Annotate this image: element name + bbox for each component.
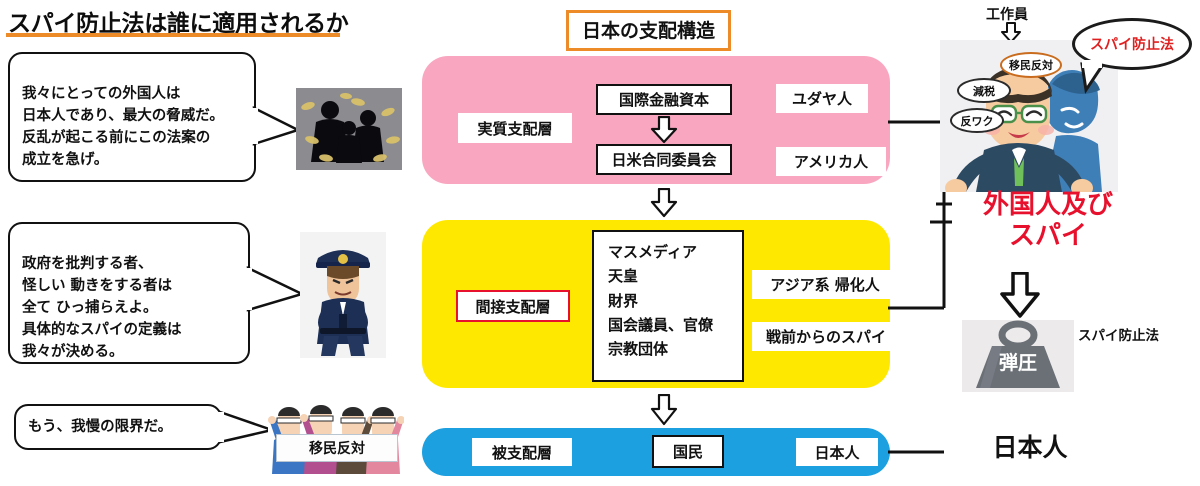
- arrow-yellow-to-blue-icon: [650, 394, 678, 426]
- chip-american-people: アメリカ人: [776, 147, 886, 176]
- agent-bubble-anti-immigration: 移民反対: [1000, 52, 1062, 78]
- target-group-heading: 外国人及び スパイ: [948, 190, 1148, 252]
- elites-with-money-illustration: [296, 88, 402, 170]
- list-item: 国会議員、官僚: [608, 313, 742, 337]
- callout-elite-text: 我々にとっての外国人は 日本人であり、最大の脅威だ。 反乱が起こる前にこの法案の…: [22, 86, 224, 168]
- chip-prewar-spies: 戦前からのスパイ: [752, 322, 900, 351]
- chip-japanese-people: 日本人: [796, 438, 878, 466]
- node-joint-committee: 日米合同委員会: [596, 144, 732, 175]
- protest-placard: 移民反対: [276, 434, 398, 462]
- layer-label-real-ruling: 実質支配層: [458, 113, 572, 143]
- callout-citizens-statement: もう、我慢の限界だ。: [14, 404, 222, 450]
- callout-police-text: 政府を批判する者、 怪しい 動きをする者は 全て ひっ捕らえよ。 具体的なスパイ…: [22, 256, 182, 360]
- agent-bubble-tax-cut: 減税: [957, 78, 1011, 103]
- arrow-pink-to-yellow-icon: [650, 188, 678, 218]
- arrow-finance-to-committee-icon: [650, 116, 678, 144]
- infographic-root: スパイ防止法は誰に適用されるか 日本の支配構造 我々にとっての外国人は 日本人で…: [0, 0, 1200, 486]
- list-item: マスメディア: [608, 240, 742, 264]
- node-citizens: 国民: [652, 435, 724, 468]
- arrow-to-suppression-icon: [1000, 272, 1040, 318]
- chip-jewish-people: ユダヤ人: [776, 84, 868, 113]
- callout-police-statement: 政府を批判する者、 怪しい 動きをする者は 全て ひっ捕らえよ。 具体的なスパイ…: [8, 222, 250, 364]
- layer-label-ruled: 被支配層: [472, 438, 572, 466]
- layer-label-indirect-ruling: 間接支配層: [456, 290, 570, 322]
- node-international-finance: 国際金融資本: [596, 84, 732, 115]
- japanese-people-heading: 日本人: [950, 428, 1110, 464]
- arrow-caption-spy-law: スパイ防止法: [1078, 324, 1159, 344]
- police-officer-illustration: [300, 232, 386, 358]
- chip-asian-naturalized: アジア系 帰化人: [752, 270, 898, 299]
- callout-police-tail: [248, 262, 306, 318]
- list-item: 宗教団体: [608, 337, 742, 361]
- agent-label: 工作員: [986, 4, 1028, 24]
- title-underline: [6, 33, 340, 37]
- callout-elite-tail: [254, 100, 302, 152]
- callout-elite-statement: 我々にとっての外国人は 日本人であり、最大の脅威だ。 反乱が起こる前にこの法案の…: [8, 52, 256, 182]
- suppression-label: 弾圧: [962, 348, 1074, 375]
- diagram-header-box: 日本の支配構造: [566, 10, 731, 51]
- list-item: 天皇: [608, 264, 742, 288]
- spy-law-bubble-tail: [1080, 64, 1106, 94]
- agent-bubble-anti-vaccine: 反ワク: [950, 108, 1004, 133]
- list-item: 財界: [608, 289, 742, 313]
- indirect-ruling-list: マスメディア 天皇 財界 国会議員、官僚 宗教団体: [592, 230, 744, 382]
- callout-citizens-text: もう、我慢の限界だ。: [28, 416, 172, 438]
